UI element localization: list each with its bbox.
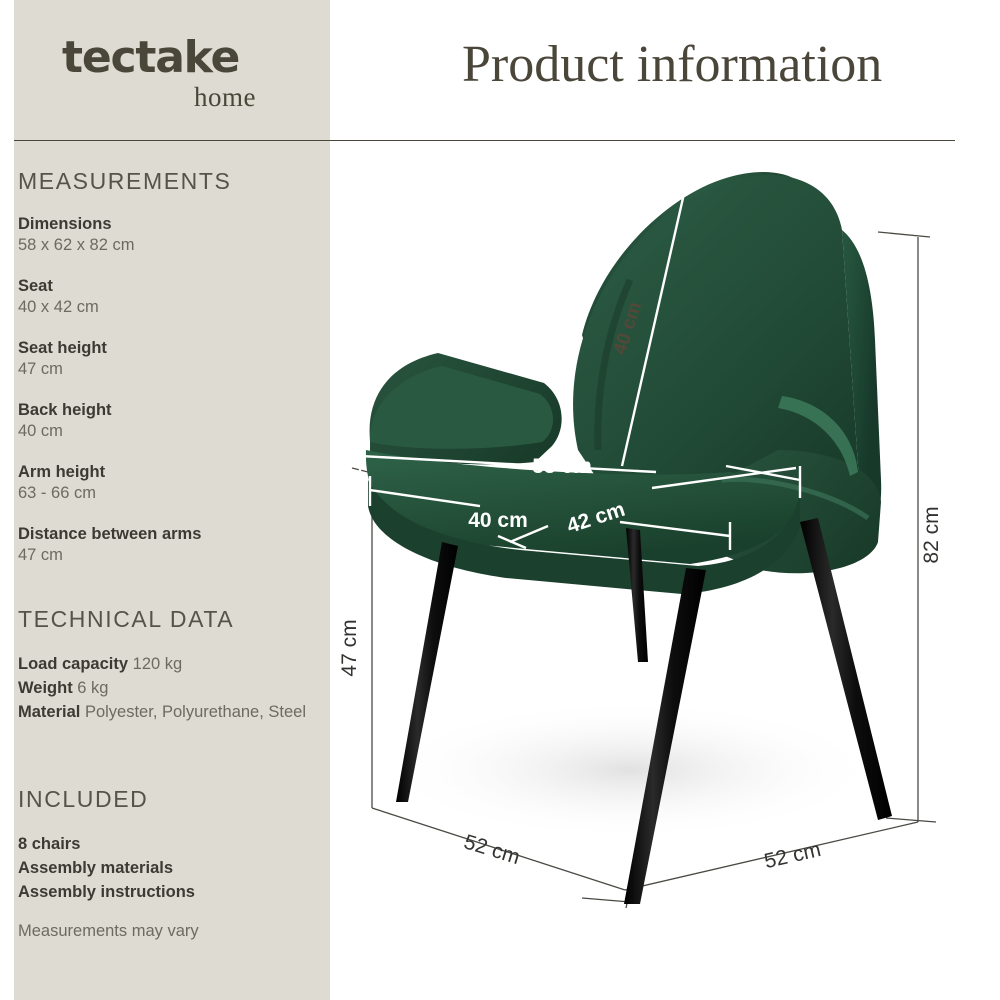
callout-seat-height: 47 cm [338,619,361,676]
included-item: Assembly materials [18,856,318,880]
spec-value: 47 cm [18,359,318,380]
included-item: 8 chairs [18,832,318,856]
spec-value: 40 cm [18,421,318,442]
spec-arm-height: Arm height 63 - 66 cm [18,462,318,504]
spec-back-height: Back height 40 cm [18,400,318,442]
technical-label: Material [18,703,80,721]
spec-label: Seat [18,276,318,297]
callout-footprint-right: 52 cm [762,838,823,873]
spec-dimensions: Dimensions 58 x 62 x 82 cm [18,214,318,256]
technical-row-weight: Weight 6 kg [18,676,318,700]
technical-label: Weight [18,679,73,697]
product-information-sheet: tectake home Product information MEASURE… [0,0,1000,1000]
spec-label: Distance between arms [18,524,318,545]
spec-label: Back height [18,400,318,421]
header-divider [14,140,955,141]
technical-data-list: Load capacity 120 kg Weight 6 kg Materia… [18,652,318,724]
measurements-footnote: Measurements may vary [18,922,199,941]
floor-shadow [380,700,880,840]
spec-seat-height: Seat height 47 cm [18,338,318,380]
included-heading: INCLUDED [18,786,148,813]
spec-seat: Seat 40 x 42 cm [18,276,318,318]
callout-footprint-left: 52 cm [461,830,522,869]
included-item: Assembly instructions [18,880,318,904]
technical-data-heading: TECHNICAL DATA [18,606,234,633]
measurements-heading: MEASUREMENTS [18,168,231,195]
technical-row-material: Material Polyester, Polyurethane, Steel [18,700,318,724]
technical-label: Load capacity [18,655,128,673]
spec-label: Seat height [18,338,318,359]
brand-logo: tectake home [62,36,262,116]
brand-name: tectake [62,36,262,80]
spec-label: Dimensions [18,214,318,235]
spec-value: 63 - 66 cm [18,483,318,504]
technical-value: 6 kg [77,679,108,697]
spec-distance-between-arms: Distance between arms 47 cm [18,524,318,566]
technical-value: Polyester, Polyurethane, Steel [85,703,306,721]
included-list: 8 chairs Assembly materials Assembly ins… [18,832,318,904]
brand-subname: home [62,84,256,111]
technical-value: 120 kg [133,655,183,673]
callout-total-height: 82 cm [920,506,943,563]
spec-label: Arm height [18,462,318,483]
spec-value: 40 x 42 cm [18,297,318,318]
product-illustration: 58 cm 40 cm 42 cm 40 cm 82 cm 47 cm 52 c… [330,150,1000,1000]
spec-value: 58 x 62 x 82 cm [18,235,318,256]
callout-seat-front-width: 40 cm [468,509,528,532]
spec-value: 47 cm [18,545,318,566]
page-title: Product information [462,36,882,93]
callout-seat-width: 58 cm [532,455,592,478]
technical-row-load-capacity: Load capacity 120 kg [18,652,318,676]
